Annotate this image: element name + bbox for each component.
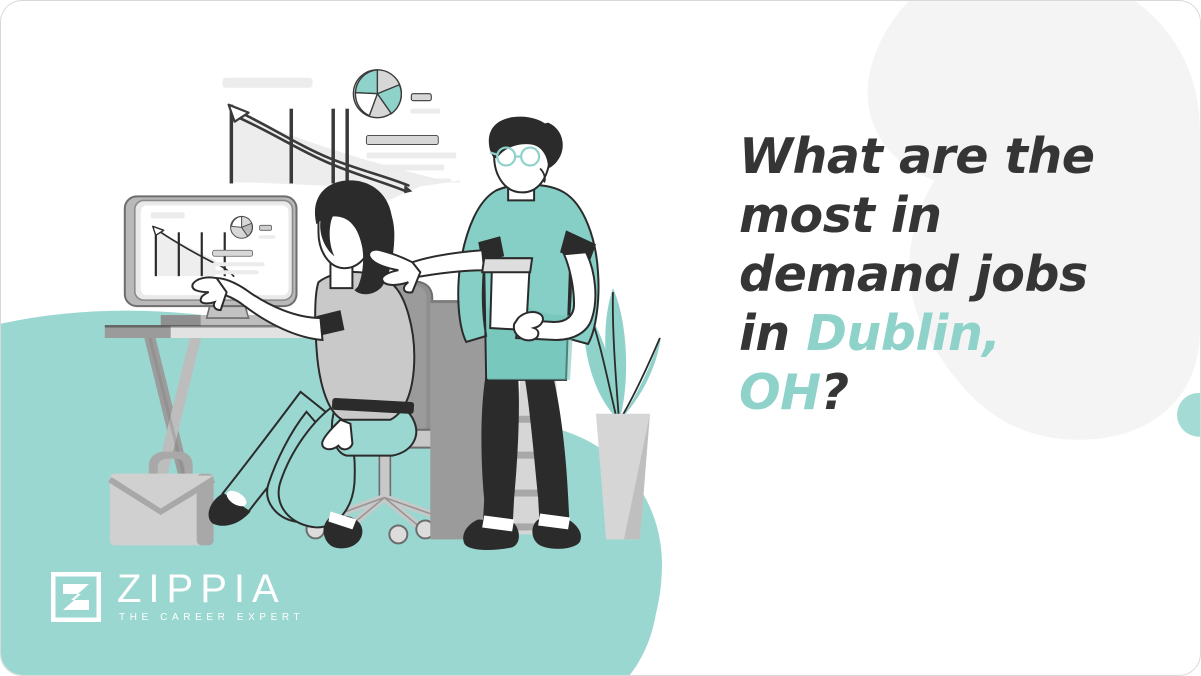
pie-legend-swatch <box>260 225 272 230</box>
page-title: What are the most in demand jobs in Dubl… <box>739 127 1099 422</box>
headline-line-4: in Dublin, <box>739 304 1099 363</box>
headline-question-mark: ? <box>821 364 849 421</box>
headline-line-1: What are the <box>739 127 1099 186</box>
placeholder-bar <box>410 109 440 114</box>
placeholder-bar <box>213 270 259 274</box>
placeholder-bar <box>366 165 444 171</box>
chart-bar <box>331 109 334 184</box>
headline-line-5: OH? <box>739 363 1099 422</box>
placeholder-bar <box>259 235 276 238</box>
headline-accent-city: Dublin, <box>806 305 1000 362</box>
placeholder-bar <box>213 262 265 266</box>
placeholder-bar <box>366 153 456 159</box>
chart-bar <box>345 109 348 184</box>
promo-card: What are the most in demand jobs in Dubl… <box>0 0 1201 676</box>
pie-chart <box>353 70 401 118</box>
zippia-logo[interactable]: ZIPPIA THE CAREER EXPERT <box>51 569 304 625</box>
headline-prefix: in <box>739 305 806 362</box>
caster <box>389 525 407 543</box>
headline-accent-state: OH <box>739 364 821 421</box>
placeholder-bar <box>213 250 253 256</box>
pie-chart <box>231 216 253 238</box>
pie-legend-swatch <box>411 94 431 101</box>
headline-line-3: demand jobs <box>739 245 1099 304</box>
zippia-tagline: THE CAREER EXPERT <box>119 611 304 625</box>
placeholder-bar <box>366 136 438 145</box>
placeholder-bar <box>223 78 313 88</box>
chart-bar <box>178 232 180 276</box>
zippia-wordmark: ZIPPIA <box>117 569 304 609</box>
chart-bar <box>201 232 203 276</box>
zippia-logo-mark-icon <box>51 572 101 622</box>
placeholder-bar <box>151 212 185 218</box>
zippia-logo-text: ZIPPIA THE CAREER EXPERT <box>117 569 304 625</box>
headline-line-2: most in <box>739 186 1099 245</box>
